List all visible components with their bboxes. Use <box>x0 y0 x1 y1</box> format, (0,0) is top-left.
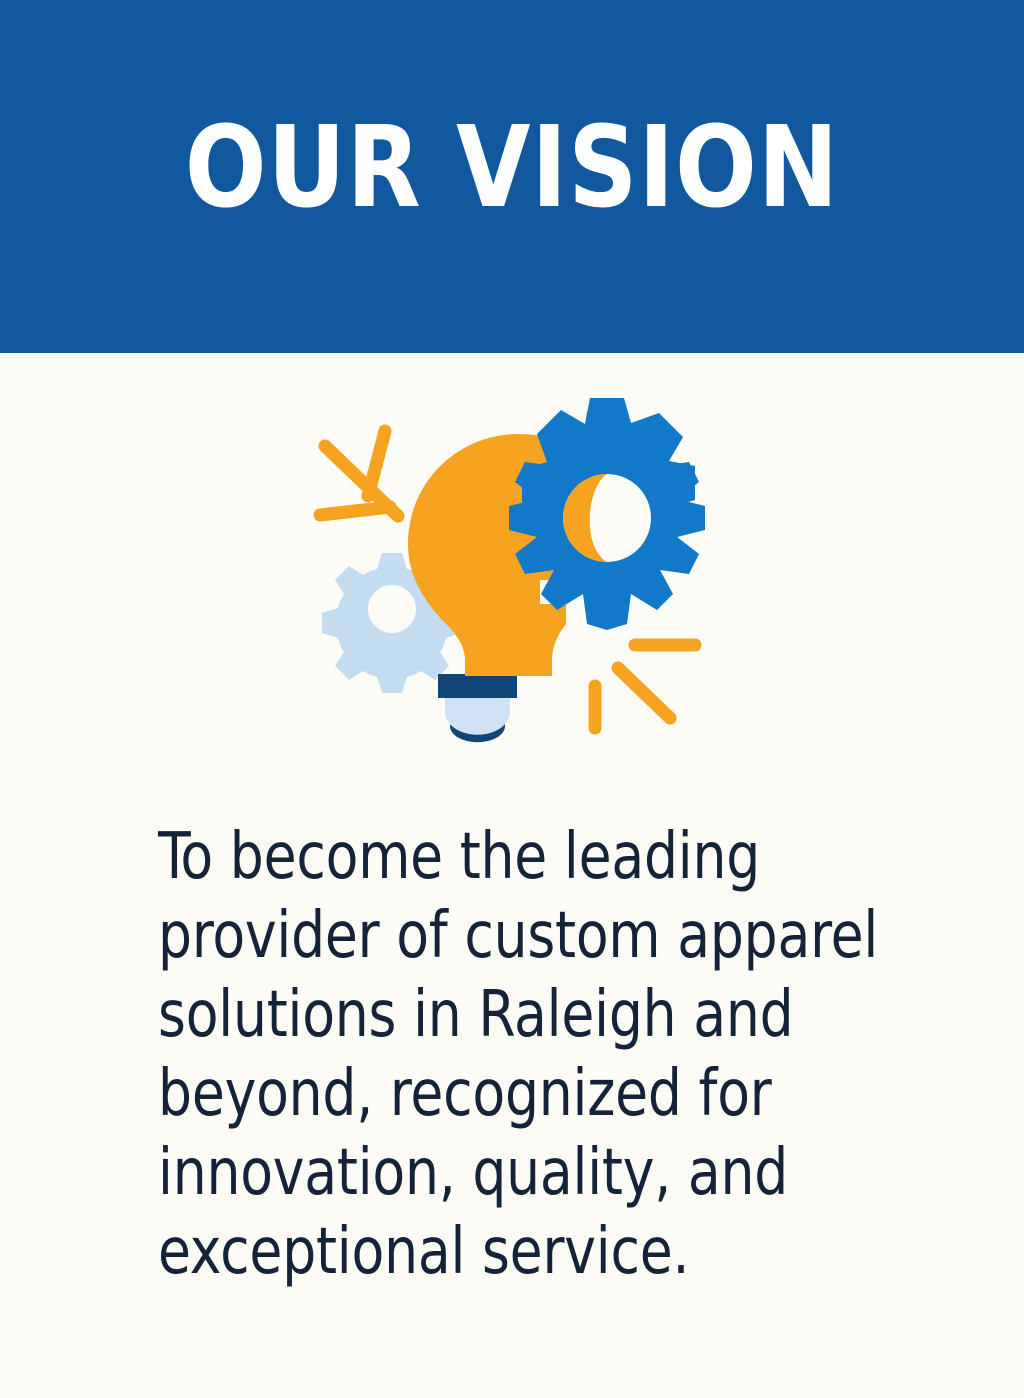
vision-line: To become the leading <box>158 818 893 897</box>
vision-line: provider of custom apparel <box>158 897 893 976</box>
vision-statement: To become the leading provider of custom… <box>158 818 893 1292</box>
vision-line: beyond, recognized for <box>158 1055 893 1134</box>
ray-lines-left <box>320 431 398 516</box>
vision-slide: OUR VISION <box>0 0 1024 1398</box>
vision-line: solutions in Raleigh and <box>158 976 893 1055</box>
lightbulb-gears-icon <box>290 398 734 782</box>
ray-lines-right <box>595 645 695 728</box>
vision-line: innovation, quality, and <box>158 1134 893 1213</box>
page-title: OUR VISION <box>72 0 953 353</box>
vision-line: exceptional service. <box>158 1213 893 1292</box>
bulb-base-collar <box>438 674 517 698</box>
header-band: OUR VISION <box>0 0 1024 353</box>
